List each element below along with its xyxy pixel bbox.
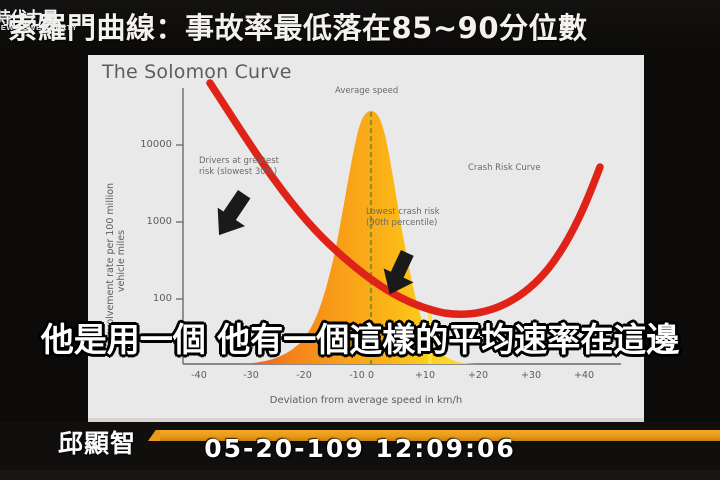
solomon-curve-plot	[88, 55, 644, 422]
annotation-average-speed: Average speed	[335, 86, 398, 97]
chart-panel: The Solomon Curve	[88, 55, 644, 422]
annotation-lowest-crash-risk: Lowest crash risk (90th percentile)	[366, 207, 440, 229]
annotation-lowest-line1: Lowest crash risk	[366, 207, 440, 218]
y-tick-marks	[176, 145, 183, 299]
annotation-drivers-line2: risk (slowest 30%)	[199, 167, 279, 178]
x-tick-label-+10: +10	[410, 370, 440, 381]
annotation-drivers-line1: Drivers at greatest	[199, 156, 279, 167]
annotation-crash-risk-curve: Crash Risk Curve	[468, 163, 541, 174]
annotation-lowest-line2: (90th percentile)	[366, 218, 440, 229]
party-logo-english: NEW POWER PARTY	[0, 23, 77, 32]
x-tick-label-+40: +40	[569, 370, 599, 381]
party-logo: 時代力量 NEW POWER PARTY	[0, 4, 146, 38]
timestamp: 05-20-109 12:09:06	[0, 434, 720, 463]
x-tick-label-+20: +20	[463, 370, 493, 381]
video-frame: 索羅門曲線：事故率最低落在85~90分位數 The Solomon Curve	[0, 0, 720, 480]
x-tick-label-+30: +30	[516, 370, 546, 381]
drivers-risk-arrow-icon	[205, 186, 259, 244]
subtitle-caption: 他是用一個 他有一個這樣的平均速率在這邊	[0, 313, 720, 361]
x-tick-label--40: -40	[184, 370, 214, 381]
y-tick-label-10000: 10000	[112, 139, 172, 150]
bottom-edge-strip	[0, 470, 720, 480]
x-tick-label--30: -30	[236, 370, 266, 381]
x-axis-label: Deviation from average speed in km/h	[88, 395, 644, 406]
annotation-drivers-at-greatest-risk: Drivers at greatest risk (slowest 30%)	[199, 156, 279, 178]
x-tick-label--20: -20	[289, 370, 319, 381]
x-tick-label-0: 0	[356, 370, 386, 381]
